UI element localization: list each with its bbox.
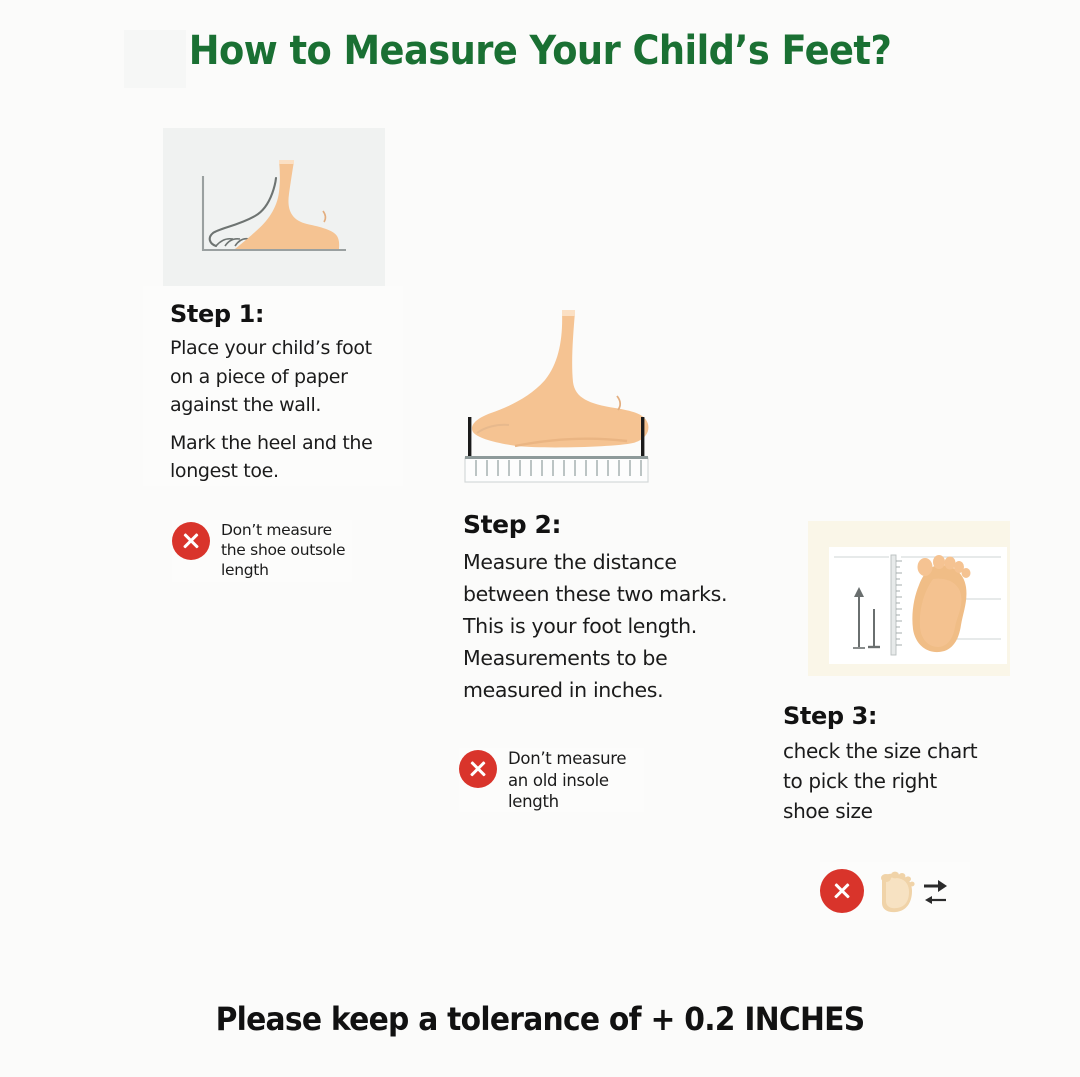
tolerance-note: Please keep a tolerance of + 0.2 INCHES [38,1000,1042,1038]
step-3-heading: Step 3: [783,702,877,730]
step-2-warning-line-3: length [508,791,626,813]
step-1-heading: Step 1: [170,300,264,328]
foot-sole-width-icon [874,869,918,913]
step-2-description: Measure the distance between these two m… [463,546,727,706]
step-3-chart-panel [829,547,1007,664]
step-2-warning-text: Don’t measure an old insole length [508,748,626,813]
step-2-heading: Step 2: [463,510,561,539]
step-1-line-4: Mark the heel and the [170,429,372,458]
step-1-warning-line-2: the shoe outsole [221,540,345,560]
width-arrows-icon [922,873,948,913]
infographic-canvas: How to Measure Your Child’s Feet? Step 1… [0,0,1080,1077]
step-3-line-2: to pick the right [783,766,977,796]
step-1-line-3: against the wall. [170,391,372,420]
step-1-line-1: Place your child’s foot [170,334,372,363]
red-x-circle-icon [459,750,497,788]
page-title: How to Measure Your Child’s Feet? [43,28,1037,74]
step-2-warning-line-2: an old insole [508,770,626,792]
step-2-warning: Don’t measure an old insole length [459,748,644,812]
step-3-description: check the size chart to pick the right s… [783,736,977,826]
step-2-illustration [455,300,685,485]
step-1-warning-line-3: length [221,560,345,580]
step-2-line-2: between these two marks. [463,578,727,610]
step-1-description: Place your child’s foot on a piece of pa… [170,334,372,486]
step-3-warning [820,862,970,920]
step-1-warning-line-1: Don’t measure [221,520,345,540]
step-3-illustration [808,521,1010,676]
step-1-warning-text: Don’t measure the shoe outsole length [221,520,345,580]
step-2-warning-line-1: Don’t measure [508,748,626,770]
foot-sole-small-icon [874,869,918,917]
step-2-line-3: This is your foot length. [463,610,727,642]
step-2-line-5: measured in inches. [463,674,727,706]
foot-on-ruler-icon [455,300,685,485]
step-3-line-1: check the size chart [783,736,977,766]
step-1-illustration [163,128,385,286]
step-3-line-3: shoe size [783,796,977,826]
step-1-line-2: on a piece of paper [170,363,372,392]
step-1-line-5: longest toe. [170,457,372,486]
red-x-circle-icon [820,869,864,913]
red-x-circle-icon [172,522,210,560]
foot-sole-on-chart-icon [829,547,1007,664]
step-1-warning: Don’t measure the shoe outsole length [172,520,352,582]
foot-side-view-against-wall-icon [163,128,385,286]
step-2-line-1: Measure the distance [463,546,727,578]
arrow-right-left-pair-icon [922,873,948,913]
step-2-line-4: Measurements to be [463,642,727,674]
